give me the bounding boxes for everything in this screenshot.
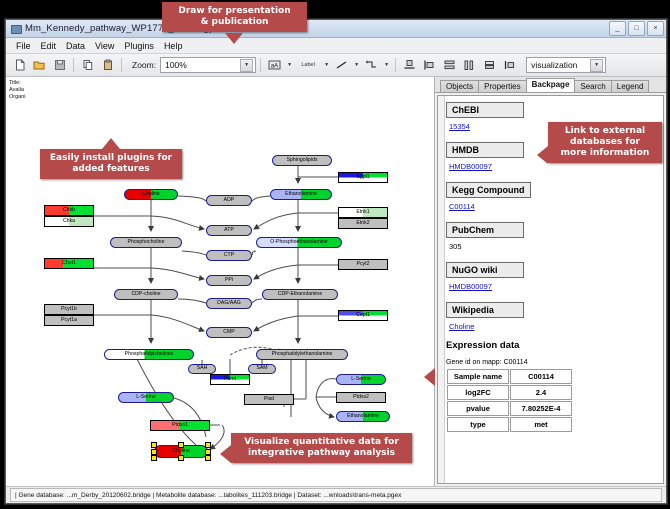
db-header-hmdb: HMDB	[446, 142, 524, 158]
selection-handle[interactable]	[151, 442, 157, 448]
callout-visualize-arrow-icon	[220, 445, 231, 463]
metabolite-node[interactable]: ADP	[206, 195, 252, 206]
gene-label: Sgpl1	[356, 175, 369, 180]
label-dropdown-icon[interactable]: ▼	[285, 57, 294, 73]
gene-label: Pcyt1b	[61, 307, 77, 312]
callout-draw-arrow-icon	[225, 33, 243, 44]
callout-links-line2: databases for	[554, 137, 656, 148]
db-link-nugo[interactable]: HMDB00097	[449, 282, 660, 291]
label-shape-text: Label	[301, 62, 314, 68]
metabolite-node[interactable]: O-Phosphoethanolamine	[256, 237, 342, 248]
tab-search[interactable]: Search	[574, 80, 611, 92]
pathway-avail-label: Availa	[9, 87, 26, 94]
gene-label: Chka	[63, 219, 75, 224]
pathway-canvas[interactable]: Title: Availa Organi	[6, 77, 435, 486]
callout-links-line1: Link to external	[554, 126, 656, 137]
chevron-down-icon[interactable]: ▼	[240, 59, 253, 72]
callout-draw-line2: & publication	[168, 17, 301, 28]
callout-draw: Draw for presentation & publication	[162, 2, 307, 32]
gene-label: Ptdss1	[172, 423, 188, 428]
gene-label: Pemt	[224, 377, 236, 382]
visualization-combobox[interactable]: visualization ▼	[526, 57, 606, 73]
metabolite-node[interactable]: Ethanolamine	[336, 411, 390, 422]
connector-dropdown-icon[interactable]: ▼	[382, 57, 391, 73]
new-file-icon[interactable]	[10, 56, 29, 75]
db-header-pubchem: PubChem	[446, 222, 524, 238]
gene-node[interactable]: Pcyt2	[338, 259, 388, 270]
menu-item-plugins[interactable]: Plugins	[119, 40, 159, 52]
metabolite-node[interactable]: SAM	[248, 364, 276, 374]
menu-item-file[interactable]: File	[11, 40, 36, 52]
paste-icon[interactable]	[98, 56, 117, 75]
metabolite-label: Phosphocholine	[128, 240, 165, 245]
expr-label-pvalue: pvalue	[447, 401, 509, 416]
shape-dropdown-icon[interactable]: ▼	[322, 57, 331, 73]
metabolite-label: O-Phosphoethanolamine	[270, 240, 327, 245]
line-dropdown-icon[interactable]: ▼	[352, 57, 361, 73]
metabolite-label: Sphingolipids	[287, 158, 318, 163]
minimize-button[interactable]: _	[609, 21, 626, 36]
metabolite-label: L-Serine	[351, 377, 371, 382]
db-header-wikipedia: Wikipedia	[446, 302, 524, 318]
svg-text:aA: aA	[271, 64, 278, 70]
db-block-pubchem: PubChem 305	[446, 220, 660, 251]
metabolite-label: Choline	[142, 192, 160, 197]
tab-legend[interactable]: Legend	[611, 80, 650, 92]
callout-plugins-arrow-icon	[102, 138, 120, 149]
metabolite-node[interactable]: Ethanolamine	[270, 189, 332, 200]
metabolite-node[interactable]: Phosphatidylcholines	[104, 349, 194, 360]
expr-label-type: type	[447, 417, 509, 432]
menu-item-view[interactable]: View	[90, 40, 119, 52]
selection-handle[interactable]	[151, 449, 157, 455]
zoom-value: 100%	[165, 60, 187, 70]
toolbar-separator	[121, 58, 122, 72]
metabolite-label: Ethanolamine	[285, 192, 317, 197]
toolbar-separator	[395, 58, 396, 72]
metabolite-label: Ethanolamine	[347, 414, 379, 419]
expr-value-pvalue: 7.80252E-4	[510, 401, 572, 416]
selection-handle[interactable]	[178, 442, 184, 448]
metabolite-label: L-Serine	[136, 395, 156, 400]
text-label-icon[interactable]: aA	[265, 56, 284, 75]
metabolite-label: CTP	[224, 253, 234, 258]
metabolite-node[interactable]: CDP-choline	[114, 289, 178, 300]
gene-id-line: Gene id on mapp: C00114	[446, 359, 660, 366]
metabolite-node[interactable]: Phosphocholine	[110, 237, 182, 248]
callout-plugins-line2: added features	[46, 164, 176, 175]
gene-label: Etnk1	[356, 210, 369, 215]
gene-node[interactable]: Pemt	[210, 374, 250, 385]
expr-label-log2fc: log2FC	[447, 385, 509, 400]
gene-label: Chpt1	[62, 261, 76, 266]
connector-icon[interactable]	[362, 56, 381, 75]
gene-node[interactable]: Pcyt1a	[44, 315, 94, 326]
pathway-organism-label: Organi	[9, 94, 26, 101]
gene-node[interactable]: Cept1	[338, 310, 388, 321]
callout-visualize-arrow-tail-icon	[424, 368, 435, 386]
metabolite-label: CDP-choline	[131, 292, 160, 297]
gene-node[interactable]: Ptdss1	[150, 420, 210, 431]
table-row: Sample name C00114	[447, 369, 572, 384]
pathway-title-label: Title:	[9, 80, 26, 87]
menu-item-edit[interactable]: Edit	[36, 40, 62, 52]
gene-node[interactable]: Ptdss2	[336, 392, 386, 403]
stack-icon[interactable]	[480, 56, 499, 75]
gene-node[interactable]: Pisd	[244, 394, 294, 405]
metabolite-label: Choline	[172, 449, 190, 454]
expr-value-sample: C00114	[510, 369, 572, 384]
metabolite-node[interactable]: ATP	[206, 225, 252, 236]
gene-label: Chkb	[63, 208, 75, 213]
metabolite-node[interactable]: L-Serine	[336, 374, 386, 385]
label-shape-icon[interactable]: Label	[295, 56, 321, 75]
app-icon	[10, 23, 21, 34]
panel-scroll-gutter[interactable]	[438, 96, 445, 483]
toolbar-separator	[260, 58, 261, 72]
gene-node[interactable]: Sgpl1	[338, 172, 388, 183]
table-row: log2FC 2.4	[447, 385, 572, 400]
gene-node[interactable]: Chkb	[44, 205, 94, 216]
expr-value-type: met	[510, 417, 572, 432]
status-bar-text: | Gene database: ...m_Derby_20120602.bri…	[10, 488, 662, 502]
open-folder-icon[interactable]	[30, 56, 49, 75]
expr-label-sample: Sample name	[447, 369, 509, 384]
callout-visualize: Visualize quantitative data for integrat…	[231, 433, 412, 463]
selection-handle[interactable]	[151, 455, 157, 461]
metabolite-node[interactable]: CDP-Ethanolamine	[262, 289, 338, 300]
expression-table: Sample name C00114 log2FC 2.4 pvalue 7.8…	[446, 368, 573, 433]
db-header-nugo: NuGO wiki	[446, 262, 524, 278]
gene-node[interactable]: Chka	[44, 216, 94, 227]
menu-item-data[interactable]: Data	[61, 40, 90, 52]
metabolite-label: ADP	[224, 198, 235, 203]
group-icon[interactable]	[500, 56, 519, 75]
close-button[interactable]: ×	[647, 21, 664, 36]
callout-draw-line1: Draw for presentation	[168, 6, 301, 17]
metabolite-label: CDP-Ethanolamine	[278, 292, 322, 297]
chevron-down-icon[interactable]: ▼	[590, 59, 603, 72]
pathvisio-window: Mm_Kennedy_pathway_WP1771_45176.gpml _ □…	[5, 19, 667, 504]
copy-icon[interactable]	[78, 56, 97, 75]
gene-node[interactable]: Etnk2	[338, 218, 388, 229]
status-bar: | Gene database: ...m_Derby_20120602.bri…	[6, 486, 666, 503]
db-header-chebi: ChEBI	[446, 102, 524, 118]
db-block-kegg: Kegg Compound C00114	[446, 180, 660, 211]
metabolite-node[interactable]: Choline	[124, 189, 178, 200]
zoom-label: Zoom:	[132, 60, 156, 70]
gene-node[interactable]: Pcyt1b	[44, 304, 94, 315]
gene-label: Pisd	[264, 397, 274, 402]
db-header-kegg: Kegg Compound	[446, 182, 531, 198]
side-panel-tabs[interactable]: Objects Properties Backpage Search Legen…	[435, 77, 666, 93]
table-row: pvalue 7.80252E-4	[447, 401, 572, 416]
gene-label: Pcyt2	[357, 262, 370, 267]
align-bottom-icon[interactable]	[400, 56, 419, 75]
db-link-kegg[interactable]: C00114	[449, 202, 660, 211]
pathway-metadata: Title: Availa Organi	[9, 80, 26, 101]
metabolite-label: SAH	[197, 366, 208, 371]
tab-objects[interactable]: Objects	[440, 80, 479, 92]
align-left-icon[interactable]	[420, 56, 439, 75]
gene-label: Etnk2	[356, 221, 369, 226]
metabolite-label: CMP	[223, 330, 235, 335]
selection-handle[interactable]	[178, 455, 184, 461]
maximize-button[interactable]: □	[628, 21, 645, 36]
metabolite-node[interactable]: CMP	[206, 327, 252, 338]
table-row: type met	[447, 417, 572, 432]
toolbar-separator	[73, 58, 74, 72]
selection-handle[interactable]	[205, 455, 211, 461]
metabolite-node[interactable]: Sphingolipids	[272, 155, 332, 166]
gene-node[interactable]: Chpt1	[44, 258, 94, 269]
metabolite-label: DAG/AAG	[217, 301, 241, 306]
gene-label: Pcyt1a	[61, 318, 77, 323]
gene-label: Ptdss2	[353, 395, 369, 400]
db-block-nugo: NuGO wiki HMDB00097	[446, 260, 660, 291]
metabolite-label: ATP	[224, 228, 234, 233]
gene-label: Cept1	[356, 313, 370, 318]
metabolite-label: Phosphatidylethanolamine	[272, 352, 333, 357]
callout-visualize-line2: integrative pathway analysis	[237, 448, 406, 459]
expression-data-heading: Expression data	[446, 340, 660, 351]
callout-links-arrow-icon	[537, 146, 548, 164]
db-block-wikipedia: Wikipedia Choline	[446, 300, 660, 331]
tab-properties[interactable]: Properties	[478, 80, 526, 92]
callout-plugins: Easily install plugins for added feature…	[40, 149, 182, 179]
callout-plugins-line1: Easily install plugins for	[46, 153, 176, 164]
callout-links-line3: more information	[554, 148, 656, 159]
metabolite-node[interactable]: Phosphatidylethanolamine	[256, 349, 348, 360]
metabolite-node[interactable]: SAH	[188, 364, 216, 374]
callout-visualize-line1: Visualize quantitative data for	[237, 437, 406, 448]
title-bar: Mm_Kennedy_pathway_WP1771_45176.gpml _ □…	[6, 20, 666, 38]
menu-item-help[interactable]: Help	[159, 40, 188, 52]
db-link-wikipedia[interactable]: Choline	[449, 322, 660, 331]
gene-node[interactable]: Etnk1	[338, 207, 388, 218]
distribute-horizontal-icon[interactable]	[460, 56, 479, 75]
expr-value-log2fc: 2.4	[510, 385, 572, 400]
db-link-hmdb[interactable]: HMDB00097	[449, 162, 660, 171]
menu-bar: File Edit Data View Plugins Help	[6, 38, 666, 54]
save-icon[interactable]	[50, 56, 69, 75]
metabolite-label: SAM	[256, 366, 267, 371]
metabolite-node[interactable]: PPi	[206, 275, 252, 286]
selection-handle[interactable]	[205, 449, 211, 455]
metabolite-label: Phosphatidylcholines	[125, 352, 174, 357]
metabolite-node[interactable]: DAG/AAG	[206, 298, 252, 309]
distribute-vertical-icon[interactable]	[440, 56, 459, 75]
toolbar: Zoom: 100% ▼ aA ▼ Label ▼ ▼ ▼	[6, 54, 666, 77]
callout-links: Link to external databases for more info…	[548, 122, 662, 163]
visualization-value: visualization	[531, 60, 577, 70]
line-icon[interactable]	[332, 56, 351, 75]
metabolite-label: PPi	[225, 278, 233, 283]
db-value-pubchem: 305	[449, 242, 660, 251]
window-controls[interactable]: _ □ ×	[609, 21, 664, 36]
zoom-combobox[interactable]: 100% ▼	[160, 57, 256, 73]
selection-handle[interactable]	[205, 442, 211, 448]
metabolite-node[interactable]: L-Serine	[118, 392, 174, 403]
metabolite-node[interactable]: CTP	[206, 250, 252, 261]
tab-backpage[interactable]: Backpage	[526, 78, 576, 92]
